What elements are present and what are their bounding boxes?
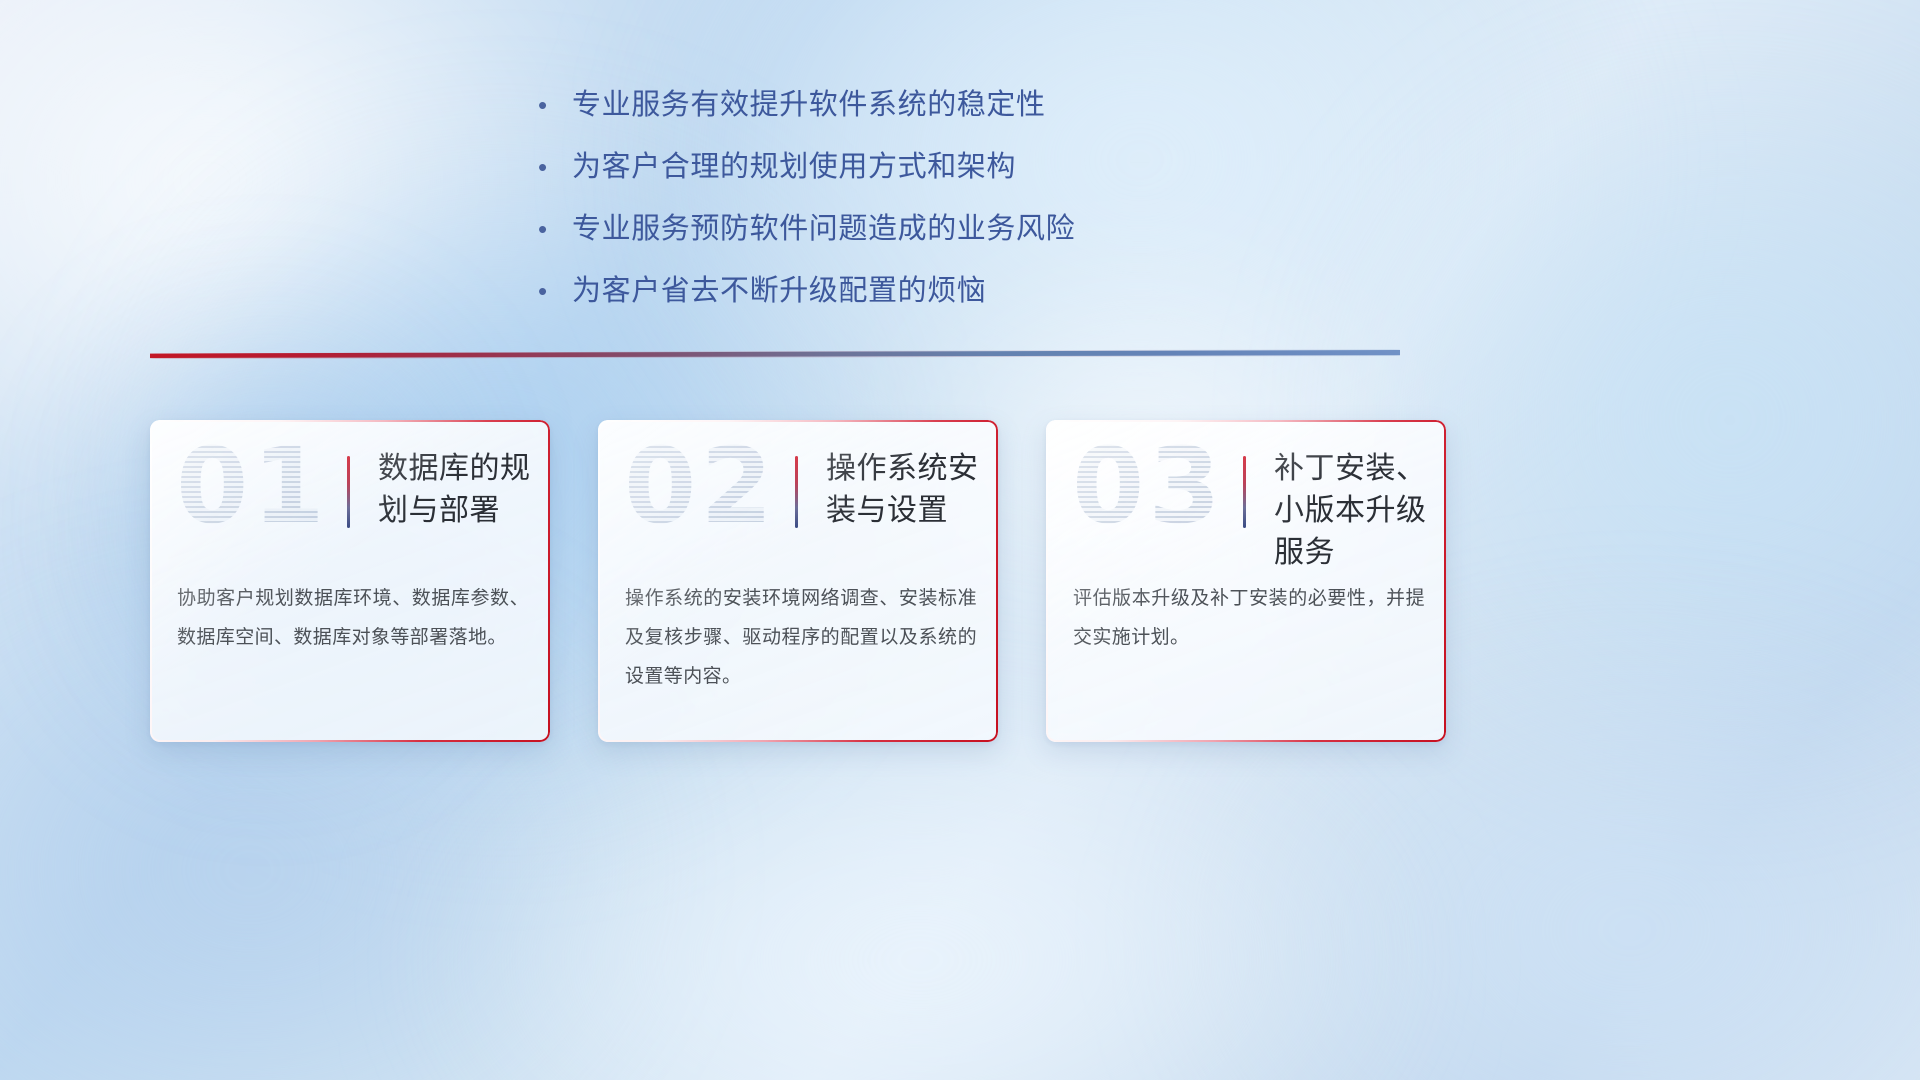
card-header: 02 02 操作系统安装与设置 [598,420,998,566]
bullet-text: 专业服务预防软件问题造成的业务风险 [572,210,1075,249]
bullet-text: 为客户合理的规划使用方式和架构 [572,148,1016,187]
bullet-dot-icon: • [530,92,572,118]
card-number: 01 [176,434,329,538]
card-accent-bar [795,456,798,528]
card-number: 03 [1072,434,1225,538]
list-item: • 专业服务预防软件问题造成的业务风险 [530,210,1390,249]
card-title: 数据库的规划与部署 [378,448,538,532]
slide-root: • 专业服务有效提升软件系统的稳定性 • 为客户合理的规划使用方式和架构 • 专… [0,0,1920,1080]
card-body-text: 协助客户规划数据库环境、数据库参数、数据库空间、数据库对象等部署落地。 [177,580,529,658]
list-item: • 为客户合理的规划使用方式和架构 [530,148,1390,187]
list-item: • 专业服务有效提升软件系统的稳定性 [530,86,1390,125]
service-card-group: 01 01 数据库的规划与部署 协助客户规划数据库环境、数据库参数、数据库空间、… [150,420,1450,745]
bullet-dot-icon: • [530,216,572,242]
bullet-dot-icon: • [530,154,572,180]
bullet-text: 专业服务有效提升软件系统的稳定性 [572,86,1046,125]
card-title: 补丁安装、小版本升级服务 [1274,448,1434,574]
benefits-bullet-list: • 专业服务有效提升软件系统的稳定性 • 为客户合理的规划使用方式和架构 • 专… [530,86,1390,333]
list-item: • 为客户省去不断升级配置的烦恼 [530,272,1390,311]
card-header: 03 03 补丁安装、小版本升级服务 [1046,420,1446,566]
service-card[interactable]: 03 03 补丁安装、小版本升级服务 评估版本升级及补丁安装的必要性，并提交实施… [1046,420,1446,742]
bullet-dot-icon: • [530,278,572,304]
service-card[interactable]: 02 02 操作系统安装与设置 操作系统的安装环境网络调查、安装标准及复核步骤、… [598,420,998,742]
section-divider [150,344,1410,366]
card-header: 01 01 数据库的规划与部署 [150,420,550,566]
card-body-text: 评估版本升级及补丁安装的必要性，并提交实施计划。 [1073,580,1425,658]
card-accent-bar [347,456,350,528]
card-body-text: 操作系统的安装环境网络调查、安装标准及复核步骤、驱动程序的配置以及系统的设置等内… [625,580,977,697]
service-card[interactable]: 01 01 数据库的规划与部署 协助客户规划数据库环境、数据库参数、数据库空间、… [150,420,550,742]
card-accent-bar [1243,456,1246,528]
bullet-text: 为客户省去不断升级配置的烦恼 [572,272,986,311]
card-title: 操作系统安装与设置 [826,448,986,532]
card-number: 02 [624,434,777,538]
